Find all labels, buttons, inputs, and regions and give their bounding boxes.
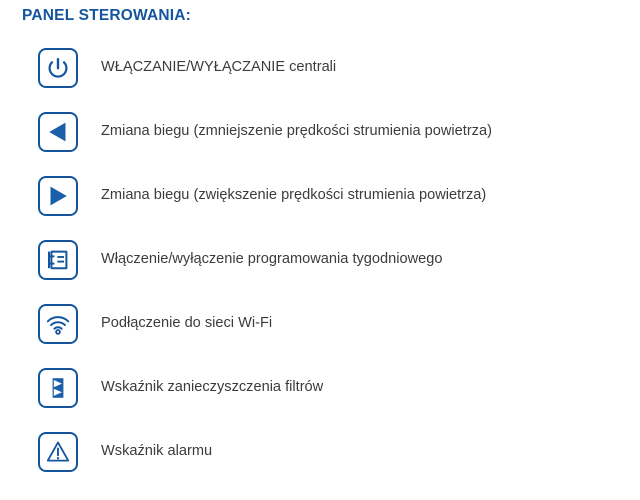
wifi-button-icon-frame[interactable]: [38, 304, 78, 344]
legend-list: WŁĄCZANIE/WYŁĄCZANIE centrali Zmiana bie…: [0, 36, 640, 484]
list-item: Zmiana biegu (zmniejszenie prędkości str…: [0, 100, 640, 164]
page-title: PANEL STEROWANIA:: [22, 7, 191, 25]
list-item-label: Zmiana biegu (zmniejszenie prędkości str…: [101, 123, 492, 141]
list-item: Podłączenie do sieci Wi-Fi: [0, 292, 640, 356]
list-item: Wskaźnik alarmu: [0, 420, 640, 484]
alarm-indicator-icon-frame[interactable]: [38, 432, 78, 472]
list-item-label: Włączenie/wyłączenie programowania tygod…: [101, 251, 443, 269]
speed-up-button-icon-frame[interactable]: [38, 176, 78, 216]
power-button-icon-frame[interactable]: [38, 48, 78, 88]
triangle-right-icon: [45, 183, 71, 209]
list-item: Wskaźnik zanieczyszczenia filtrów: [0, 356, 640, 420]
control-panel-legend: PANEL STEROWANIA: WŁĄCZANIE/WYŁĄCZANIE c…: [0, 0, 640, 500]
list-item-label: Wskaźnik zanieczyszczenia filtrów: [101, 379, 323, 397]
list-item-label: WŁĄCZANIE/WYŁĄCZANIE centrali: [101, 59, 336, 77]
list-item-label: Podłączenie do sieci Wi-Fi: [101, 315, 272, 333]
list-item: Włączenie/wyłączenie programowania tygod…: [0, 228, 640, 292]
speed-down-button-icon-frame[interactable]: [38, 112, 78, 152]
wifi-icon: [45, 311, 71, 337]
weekly-schedule-icon: [45, 247, 71, 273]
list-item: Zmiana biegu (zwiększenie prędkości stru…: [0, 164, 640, 228]
filter-indicator-icon-frame[interactable]: [38, 368, 78, 408]
list-item-label: Wskaźnik alarmu: [101, 443, 212, 461]
triangle-left-icon: [45, 119, 71, 145]
alarm-warning-icon: [45, 439, 71, 465]
power-icon: [45, 55, 71, 81]
list-item: WŁĄCZANIE/WYŁĄCZANIE centrali: [0, 36, 640, 100]
list-item-label: Zmiana biegu (zwiększenie prędkości stru…: [101, 187, 486, 205]
weekly-program-button-icon-frame[interactable]: [38, 240, 78, 280]
filter-indicator-icon: [45, 375, 71, 401]
